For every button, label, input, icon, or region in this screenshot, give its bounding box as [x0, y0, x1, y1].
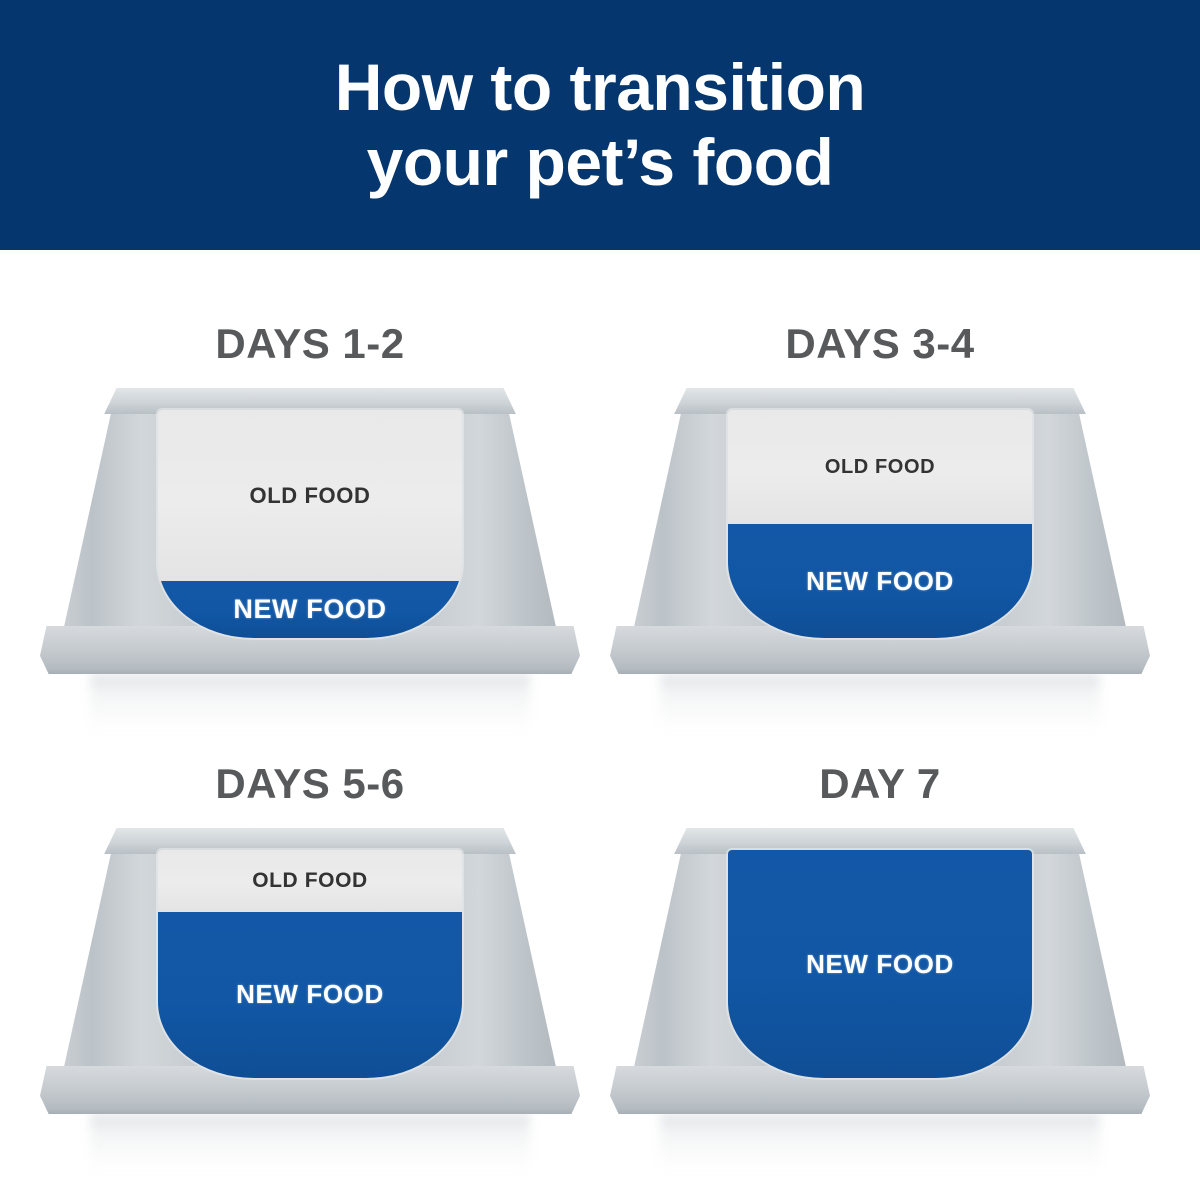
bowl-reflection	[660, 674, 1100, 732]
step-caption: DAYS 5-6	[40, 760, 580, 808]
pet-food-bowl: OLD FOOD NEW FOOD	[40, 388, 580, 688]
bowl-food-well: OLD FOOD NEW FOOD	[158, 410, 462, 638]
new-food-portion: NEW FOOD	[158, 912, 462, 1078]
bowl-reflection	[660, 1114, 1100, 1172]
step-caption: DAYS 3-4	[610, 320, 1150, 368]
pet-food-bowl: OLD FOOD NEW FOOD	[610, 388, 1150, 688]
step-caption: DAY 7	[610, 760, 1150, 808]
new-food-label: NEW FOOD	[806, 949, 954, 980]
new-food-portion: NEW FOOD	[728, 850, 1032, 1078]
step-caption: DAYS 1-2	[40, 320, 580, 368]
transition-step-3: DAYS 5-6 OLD FOOD NEW FOOD	[40, 760, 580, 1200]
new-food-label: NEW FOOD	[233, 594, 386, 625]
new-food-label: NEW FOOD	[806, 566, 954, 597]
new-food-portion: NEW FOOD	[158, 581, 462, 638]
transition-steps-grid: DAYS 1-2 OLD FOOD NEW FOOD DAYS 3-4	[0, 250, 1200, 1200]
transition-step-1: DAYS 1-2 OLD FOOD NEW FOOD	[40, 320, 580, 770]
page-title-line-2: your pet’s food	[367, 125, 834, 200]
old-food-portion: OLD FOOD	[158, 850, 462, 912]
bowl-food-well: OLD FOOD NEW FOOD	[728, 850, 1032, 1078]
bowl-reflection	[90, 674, 530, 732]
bowl-food-well: OLD FOOD NEW FOOD	[158, 850, 462, 1078]
bowl-reflection	[90, 1114, 530, 1172]
old-food-portion: OLD FOOD	[728, 410, 1032, 524]
old-food-label: OLD FOOD	[252, 869, 368, 893]
bowl-food-well: OLD FOOD NEW FOOD	[728, 410, 1032, 638]
transition-step-4: DAY 7 OLD FOOD NEW FOOD	[610, 760, 1150, 1200]
old-food-label: OLD FOOD	[825, 456, 935, 479]
pet-food-bowl: OLD FOOD NEW FOOD	[40, 828, 580, 1128]
new-food-portion: NEW FOOD	[728, 524, 1032, 638]
old-food-portion: OLD FOOD	[158, 410, 462, 581]
old-food-label: OLD FOOD	[250, 483, 371, 509]
transition-step-2: DAYS 3-4 OLD FOOD NEW FOOD	[610, 320, 1150, 770]
new-food-label: NEW FOOD	[236, 979, 384, 1010]
pet-food-bowl: OLD FOOD NEW FOOD	[610, 828, 1150, 1128]
header-banner: How to transition your pet’s food	[0, 0, 1200, 250]
page-title-line-1: How to transition	[335, 50, 865, 125]
